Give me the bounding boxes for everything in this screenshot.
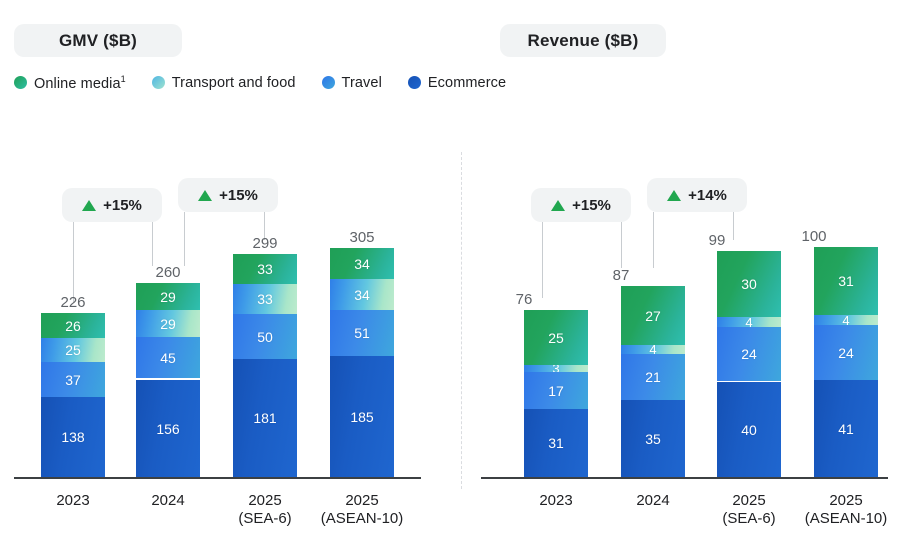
revenue-segment-ecommerce-2025-sea6[interactable]: 40 bbox=[717, 382, 781, 477]
gmv-segment-travel-2025-sea6[interactable]: 50 bbox=[233, 314, 297, 359]
gmv-segment-transport-and-food-2025-asean10[interactable]: 34 bbox=[330, 279, 394, 310]
gmv-segment-ecommerce-2024[interactable]: 156 bbox=[136, 380, 200, 477]
gmv-x-label-sub: (ASEAN-10) bbox=[292, 510, 432, 528]
revenue-segment-label: 3 bbox=[552, 365, 559, 372]
gmv-segment-label: 51 bbox=[354, 326, 370, 340]
gmv-segment-online-media-2025-sea6[interactable]: 33 bbox=[233, 254, 297, 284]
revenue-x-label-2025-asean10: 2025 (ASEAN-10) bbox=[776, 492, 916, 528]
gmv-bar-total-2023: 226 bbox=[18, 294, 128, 311]
revenue-growth-badge-2023-2024: +15% bbox=[531, 188, 631, 222]
triangle-up-icon bbox=[551, 200, 565, 211]
gmv-segment-label: 29 bbox=[160, 290, 176, 304]
gmv-segment-online-media-2024[interactable]: 29 bbox=[136, 283, 200, 310]
gmv-segment-ecommerce-2023[interactable]: 138 bbox=[41, 397, 105, 477]
revenue-segment-label: 31 bbox=[838, 274, 854, 288]
gmv-growth-badge-2023-2024: +15% bbox=[62, 188, 162, 222]
gmv-growth-value-1: +15% bbox=[103, 197, 142, 214]
gmv-segment-label: 185 bbox=[350, 410, 373, 424]
revenue-growth-value-1: +15% bbox=[572, 197, 611, 214]
revenue-segment-label: 25 bbox=[548, 331, 564, 345]
revenue-segment-transport-and-food-2023[interactable]: 3 bbox=[524, 365, 588, 372]
gmv-segment-label: 156 bbox=[156, 422, 179, 436]
revenue-growth-badge-2024-2025: +14% bbox=[647, 178, 747, 212]
revenue-bar-2025-sea6[interactable]: 30 4 24 40 bbox=[717, 251, 781, 477]
gmv-segment-label: 25 bbox=[65, 343, 81, 357]
gmv-segment-transport-and-food-2024[interactable]: 29 bbox=[136, 310, 200, 337]
revenue-segment-ecommerce-2025-asean10[interactable]: 41 bbox=[814, 380, 878, 477]
gmv-badge-connector-1b bbox=[152, 222, 153, 266]
gmv-bar-total-2024: 260 bbox=[113, 264, 223, 281]
gmv-bar-total-2025-sea6: 299 bbox=[210, 235, 320, 252]
revenue-badge-connector-2a bbox=[653, 212, 654, 268]
revenue-segment-label: 35 bbox=[645, 432, 661, 446]
revenue-segment-travel-2025-asean10[interactable]: 24 bbox=[814, 325, 878, 380]
revenue-segment-transport-and-food-2025-asean10[interactable]: 4 bbox=[814, 315, 878, 325]
gmv-badge-connector-1a bbox=[73, 222, 74, 302]
revenue-segment-label: 31 bbox=[548, 436, 564, 450]
revenue-bar-total-2025-asean10: 100 bbox=[759, 228, 869, 245]
revenue-segment-online-media-2025-sea6[interactable]: 30 bbox=[717, 251, 781, 317]
revenue-segment-travel-2024[interactable]: 21 bbox=[621, 354, 685, 400]
gmv-segment-transport-and-food-2023[interactable]: 25 bbox=[41, 338, 105, 362]
revenue-segment-online-media-2023[interactable]: 25 bbox=[524, 310, 588, 365]
gmv-bar-total-2025-asean10: 305 bbox=[307, 229, 417, 246]
revenue-segment-label: 27 bbox=[645, 309, 661, 323]
revenue-x-label-main: 2025 bbox=[732, 492, 765, 509]
revenue-x-label-sub: (ASEAN-10) bbox=[776, 510, 916, 528]
gmv-segment-label: 33 bbox=[257, 292, 273, 306]
revenue-segment-ecommerce-2024[interactable]: 35 bbox=[621, 400, 685, 477]
gmv-segment-online-media-2025-asean10[interactable]: 34 bbox=[330, 248, 394, 279]
gmv-bar-2024[interactable]: 29 29 45 156 bbox=[136, 283, 200, 477]
revenue-segment-online-media-2024[interactable]: 27 bbox=[621, 286, 685, 345]
gmv-segment-travel-2023[interactable]: 37 bbox=[41, 362, 105, 397]
gmv-segment-ecommerce-2025-asean10[interactable]: 185 bbox=[330, 356, 394, 477]
gmv-x-axis bbox=[14, 477, 421, 479]
triangle-up-icon bbox=[198, 190, 212, 201]
revenue-bar-total-2023: 76 bbox=[469, 291, 579, 308]
revenue-x-axis bbox=[481, 477, 888, 479]
gmv-x-label-main: 2023 bbox=[56, 492, 89, 509]
revenue-badge-connector-1a bbox=[542, 222, 543, 298]
revenue-stacked-bar-chart: +15% +14% 76 25 3 17 31 87 bbox=[461, 0, 918, 552]
gmv-segment-online-media-2023[interactable]: 26 bbox=[41, 313, 105, 338]
gmv-segment-label: 33 bbox=[257, 262, 273, 276]
revenue-x-label-main: 2024 bbox=[636, 492, 669, 509]
revenue-segment-travel-2025-sea6[interactable]: 24 bbox=[717, 327, 781, 381]
revenue-segment-transport-and-food-2025-sea6[interactable]: 4 bbox=[717, 317, 781, 327]
gmv-segment-label: 45 bbox=[160, 351, 176, 365]
revenue-growth-value-2: +14% bbox=[688, 187, 727, 204]
gmv-segment-label: 34 bbox=[354, 257, 370, 271]
chart-canvas: GMV ($B) Revenue ($B) Online media1 Tran… bbox=[0, 0, 918, 552]
revenue-segment-label: 4 bbox=[842, 315, 849, 325]
gmv-segment-label: 181 bbox=[253, 411, 276, 425]
gmv-segment-label: 29 bbox=[160, 317, 176, 331]
gmv-segment-travel-2025-asean10[interactable]: 51 bbox=[330, 310, 394, 356]
revenue-segment-label: 30 bbox=[741, 277, 757, 291]
revenue-segment-transport-and-food-2024[interactable]: 4 bbox=[621, 345, 685, 354]
gmv-x-label-2025-asean10: 2025 (ASEAN-10) bbox=[292, 492, 432, 528]
gmv-segment-label: 37 bbox=[65, 373, 81, 387]
gmv-segment-label: 26 bbox=[65, 319, 81, 333]
revenue-bar-total-2025-sea6: 99 bbox=[662, 232, 772, 249]
gmv-segment-label: 34 bbox=[354, 288, 370, 302]
gmv-x-label-main: 2025 bbox=[345, 492, 378, 509]
gmv-bar-2025-sea6[interactable]: 33 33 50 181 bbox=[233, 254, 297, 477]
revenue-segment-travel-2023[interactable]: 17 bbox=[524, 372, 588, 409]
revenue-badge-connector-1b bbox=[621, 222, 622, 268]
gmv-segment-label: 138 bbox=[61, 430, 84, 444]
revenue-segment-label: 4 bbox=[649, 345, 656, 354]
revenue-segment-label: 17 bbox=[548, 384, 564, 398]
revenue-segment-label: 40 bbox=[741, 423, 757, 437]
revenue-segment-ecommerce-2023[interactable]: 31 bbox=[524, 409, 588, 477]
gmv-x-label-main: 2025 bbox=[248, 492, 281, 509]
revenue-bar-total-2024: 87 bbox=[566, 267, 676, 284]
revenue-segment-online-media-2025-asean10[interactable]: 31 bbox=[814, 247, 878, 315]
gmv-segment-travel-2024[interactable]: 45 bbox=[136, 337, 200, 378]
gmv-stacked-bar-chart: +15% +15% 226 26 25 37 138 26 bbox=[0, 0, 460, 552]
gmv-segment-ecommerce-2025-sea6[interactable]: 181 bbox=[233, 359, 297, 477]
revenue-segment-label: 4 bbox=[745, 317, 752, 327]
triangle-up-icon bbox=[82, 200, 96, 211]
revenue-segment-label: 24 bbox=[741, 347, 757, 361]
revenue-segment-label: 24 bbox=[838, 346, 854, 360]
gmv-growth-badge-2024-2025: +15% bbox=[178, 178, 278, 212]
gmv-bar-2023[interactable]: 26 25 37 138 bbox=[41, 313, 105, 477]
revenue-x-label-main: 2023 bbox=[539, 492, 572, 509]
revenue-segment-label: 21 bbox=[645, 370, 661, 384]
gmv-badge-connector-2a bbox=[184, 212, 185, 266]
revenue-bar-2023[interactable]: 25 3 17 31 bbox=[524, 310, 588, 477]
gmv-bar-2025-asean10[interactable]: 34 34 51 185 bbox=[330, 248, 394, 477]
gmv-segment-label: 50 bbox=[257, 330, 273, 344]
revenue-segment-label: 41 bbox=[838, 422, 854, 436]
revenue-x-label-main: 2025 bbox=[829, 492, 862, 509]
revenue-bar-2025-asean10[interactable]: 31 4 24 41 bbox=[814, 247, 878, 477]
gmv-growth-value-2: +15% bbox=[219, 187, 258, 204]
gmv-segment-transport-and-food-2025-sea6[interactable]: 33 bbox=[233, 284, 297, 314]
gmv-x-label-main: 2024 bbox=[151, 492, 184, 509]
revenue-bar-2024[interactable]: 27 4 21 35 bbox=[621, 286, 685, 477]
triangle-up-icon bbox=[667, 190, 681, 201]
